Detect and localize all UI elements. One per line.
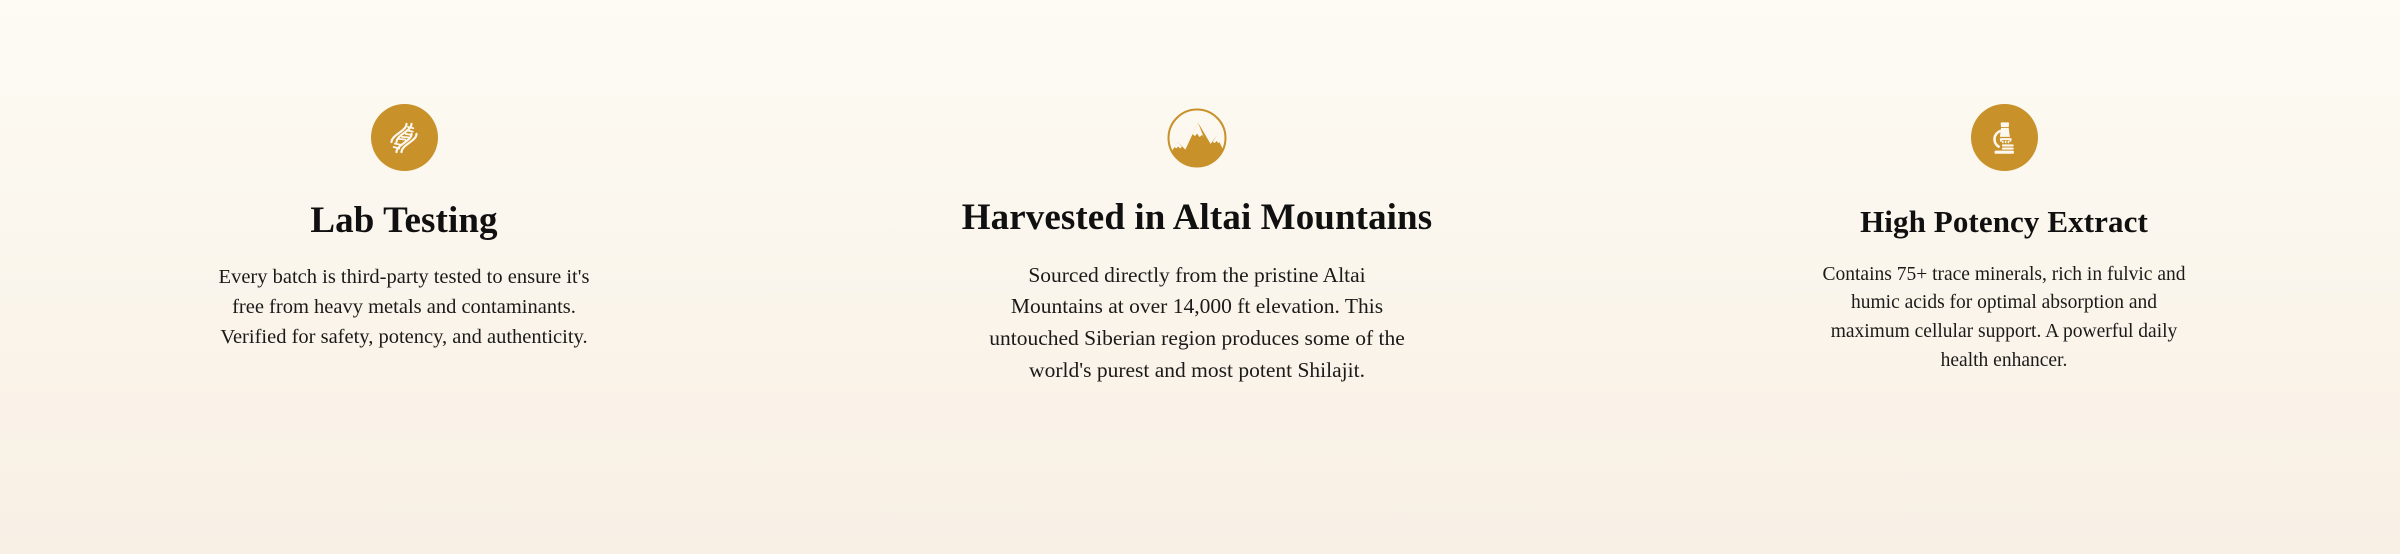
feature-description: Sourced directly from the pristine Altai… [987, 260, 1407, 386]
feature-title: Harvested in Altai Mountains [962, 199, 1432, 238]
feature-card-altai-mountains: Harvested in Altai Mountains Sourced dir… [790, 104, 1602, 386]
feature-card-lab-testing: Lab Testing Every batch is third-party t… [0, 104, 790, 352]
product-benefits-section: Lab Testing Every batch is third-party t… [0, 0, 2400, 554]
microscope-icon [1985, 119, 2023, 157]
feature-title: High Potency Extract [1860, 206, 2148, 239]
feature-card-high-potency: High Potency Extract Contains 75+ trace … [1602, 104, 2400, 375]
mountains-icon [1166, 107, 1228, 169]
dna-helix-icon [384, 118, 424, 158]
dna-helix-icon-badge [371, 104, 438, 171]
feature-description: Contains 75+ trace minerals, rich in ful… [1814, 261, 2194, 376]
feature-title: Lab Testing [310, 202, 497, 241]
mountains-icon-badge [1164, 104, 1231, 171]
microscope-icon-badge [1971, 104, 2038, 171]
feature-description: Every batch is third-party tested to ens… [204, 262, 604, 352]
